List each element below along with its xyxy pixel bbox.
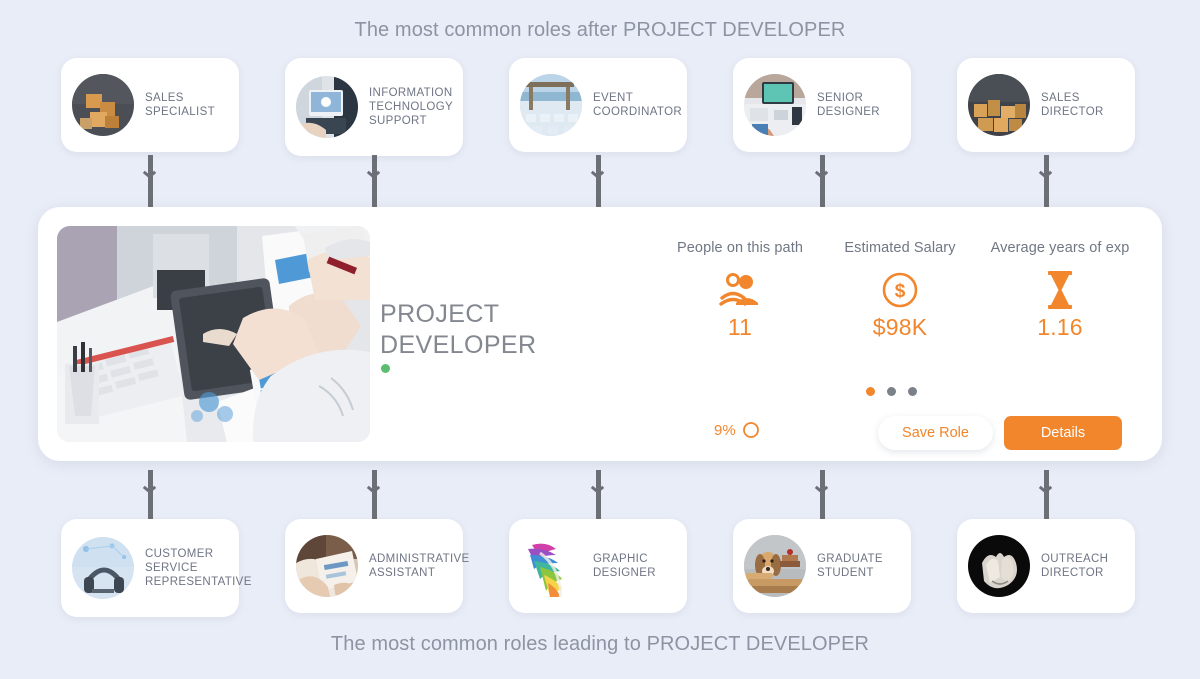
cardboard-boxes-photo-icon: [968, 74, 1030, 136]
arrow-up-prev-1: [142, 470, 158, 522]
role-card-next-1[interactable]: SALES SPECIALIST: [61, 58, 239, 152]
stat-value: $98K: [820, 314, 980, 341]
match-percent: 9%: [714, 421, 760, 439]
helping-hands-photo-icon: [968, 535, 1030, 597]
progress-ring-icon: [742, 421, 760, 439]
role-card-label: EVENT COORDINATOR: [593, 91, 682, 119]
rainbow-feather-graphic-icon: [520, 535, 582, 597]
role-card-next-5[interactable]: SALES DIRECTOR: [957, 58, 1135, 152]
carousel-pagination[interactable]: [866, 387, 917, 396]
arrow-up-next-3: [590, 155, 606, 207]
details-button[interactable]: Details: [1004, 416, 1122, 450]
stat-average-years-exp: Average years of exp 1.16: [980, 240, 1140, 341]
role-card-label: CUSTOMER SERVICE REPRESENTATIVE: [145, 547, 252, 589]
role-card-label: SALES DIRECTOR: [1041, 91, 1104, 119]
role-card-label: SENIOR DESIGNER: [817, 91, 880, 119]
dog-books-photo-icon: [744, 535, 806, 597]
role-card-next-2[interactable]: INFORMATION TECHNOLOGY SUPPORT: [285, 58, 463, 156]
arrow-up-prev-2: [366, 470, 382, 522]
arrow-up-prev-4: [814, 470, 830, 522]
stat-label: Average years of exp: [980, 240, 1140, 256]
role-stats: People on this path 11 Estimated Salary …: [660, 240, 1140, 341]
arrow-up-next-2: [366, 155, 382, 207]
save-role-button[interactable]: Save Role: [878, 416, 993, 450]
role-card-label: OUTREACH DIRECTOR: [1041, 552, 1108, 580]
role-card-label: SALES SPECIALIST: [145, 91, 215, 119]
role-card-prev-1[interactable]: CUSTOMER SERVICE REPRESENTATIVE: [61, 519, 239, 617]
stat-estimated-salary: Estimated Salary $ $98K: [820, 240, 980, 341]
office-tablet-documents-photo: [57, 226, 370, 442]
svg-text:$: $: [895, 281, 906, 302]
pagination-dot-1[interactable]: [866, 387, 875, 396]
career-path-canvas: The most common roles after PROJECT DEVE…: [0, 0, 1200, 679]
status-badge: [381, 364, 390, 373]
hourglass-icon: [980, 268, 1140, 312]
design-desk-photo-icon: [744, 74, 806, 136]
arrow-up-next-4: [814, 155, 830, 207]
match-percent-label: 9%: [714, 422, 736, 439]
role-card-next-3[interactable]: EVENT COORDINATOR: [509, 58, 687, 152]
people-icon: [660, 268, 820, 312]
tablet-hands-photo-icon: [296, 76, 358, 138]
stat-value: 11: [660, 314, 820, 341]
caption-next-roles: The most common roles after PROJECT DEVE…: [0, 19, 1200, 42]
role-card-label: GRAPHIC DESIGNER: [593, 552, 656, 580]
beach-event-photo-icon: [520, 74, 582, 136]
arrow-up-prev-5: [1038, 470, 1054, 522]
caption-previous-roles: The most common roles leading to PROJECT…: [0, 633, 1200, 656]
stat-value: 1.16: [980, 314, 1140, 341]
role-card-label: GRADUATE STUDENT: [817, 552, 883, 580]
current-role-title: PROJECT DEVELOPER: [380, 299, 536, 361]
role-card-prev-2[interactable]: ADMINISTRATIVE ASSISTANT: [285, 519, 463, 613]
arrow-up-prev-3: [590, 470, 606, 522]
stat-label: People on this path: [660, 240, 820, 256]
pagination-dot-2[interactable]: [887, 387, 896, 396]
arrow-up-next-1: [142, 155, 158, 207]
paperwork-hands-photo-icon: [296, 535, 358, 597]
role-card-next-4[interactable]: SENIOR DESIGNER: [733, 58, 911, 152]
role-card-prev-5[interactable]: OUTREACH DIRECTOR: [957, 519, 1135, 613]
role-card-prev-3[interactable]: GRAPHIC DESIGNER: [509, 519, 687, 613]
role-card-label: ADMINISTRATIVE ASSISTANT: [369, 552, 470, 580]
arrow-up-next-5: [1038, 155, 1054, 207]
pagination-dot-3[interactable]: [908, 387, 917, 396]
stat-label: Estimated Salary: [820, 240, 980, 256]
role-card-prev-4[interactable]: GRADUATE STUDENT: [733, 519, 911, 613]
dollar-circle-icon: $: [820, 268, 980, 312]
role-card-label: INFORMATION TECHNOLOGY SUPPORT: [369, 86, 453, 128]
stat-people-on-path: People on this path 11: [660, 240, 820, 341]
boxes-stack-photo-icon: [72, 74, 134, 136]
headset-network-photo-icon: [72, 537, 134, 599]
